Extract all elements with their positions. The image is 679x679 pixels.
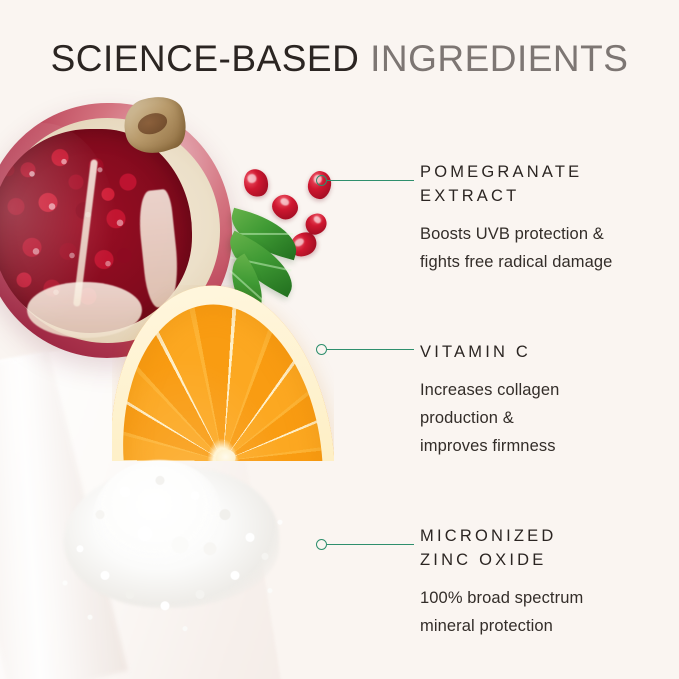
callout-description: Boosts UVB protection & fights free radi… bbox=[420, 220, 612, 276]
callout-connector-line bbox=[327, 180, 414, 181]
orange-body bbox=[112, 285, 334, 461]
callout-marker-icon bbox=[316, 175, 327, 186]
pomegranate-membrane bbox=[73, 159, 98, 307]
orange-slice-photo bbox=[112, 285, 334, 461]
callout-marker-icon bbox=[316, 344, 327, 355]
callout-description: 100% broad spectrum mineral protection bbox=[420, 584, 583, 640]
zinc-oxide-powder-photo bbox=[50, 450, 300, 640]
orange-pulp bbox=[112, 295, 334, 461]
callout-description: Increases collagen production & improves… bbox=[420, 376, 559, 460]
ingredient-photo-collage bbox=[0, 95, 345, 679]
callout-text-block: VITAMIN C Increases collagen production … bbox=[420, 340, 559, 460]
title-secondary: INGREDIENTS bbox=[370, 38, 628, 79]
callout-connector-line bbox=[327, 544, 414, 545]
page-title: SCIENCE-BASED INGREDIENTS bbox=[0, 38, 679, 80]
callout-text-block: POMEGRANATE EXTRACT Boosts UVB protectio… bbox=[420, 160, 612, 276]
pomegranate-aril bbox=[268, 191, 302, 224]
callout-heading: VITAMIN C bbox=[420, 340, 559, 364]
ingredients-infographic: SCIENCE-BASED INGREDIENTS bbox=[0, 0, 679, 679]
powder-grains bbox=[50, 450, 300, 640]
callout-connector-line bbox=[327, 349, 414, 350]
pomegranate-aril bbox=[240, 166, 271, 200]
callout-marker-icon bbox=[316, 539, 327, 550]
title-primary: SCIENCE-BASED bbox=[51, 38, 360, 79]
callout-heading: POMEGRANATE EXTRACT bbox=[420, 160, 612, 208]
callout-heading: MICRONIZED ZINC OXIDE bbox=[420, 524, 583, 572]
callout-text-block: MICRONIZED ZINC OXIDE 100% broad spectru… bbox=[420, 524, 583, 640]
